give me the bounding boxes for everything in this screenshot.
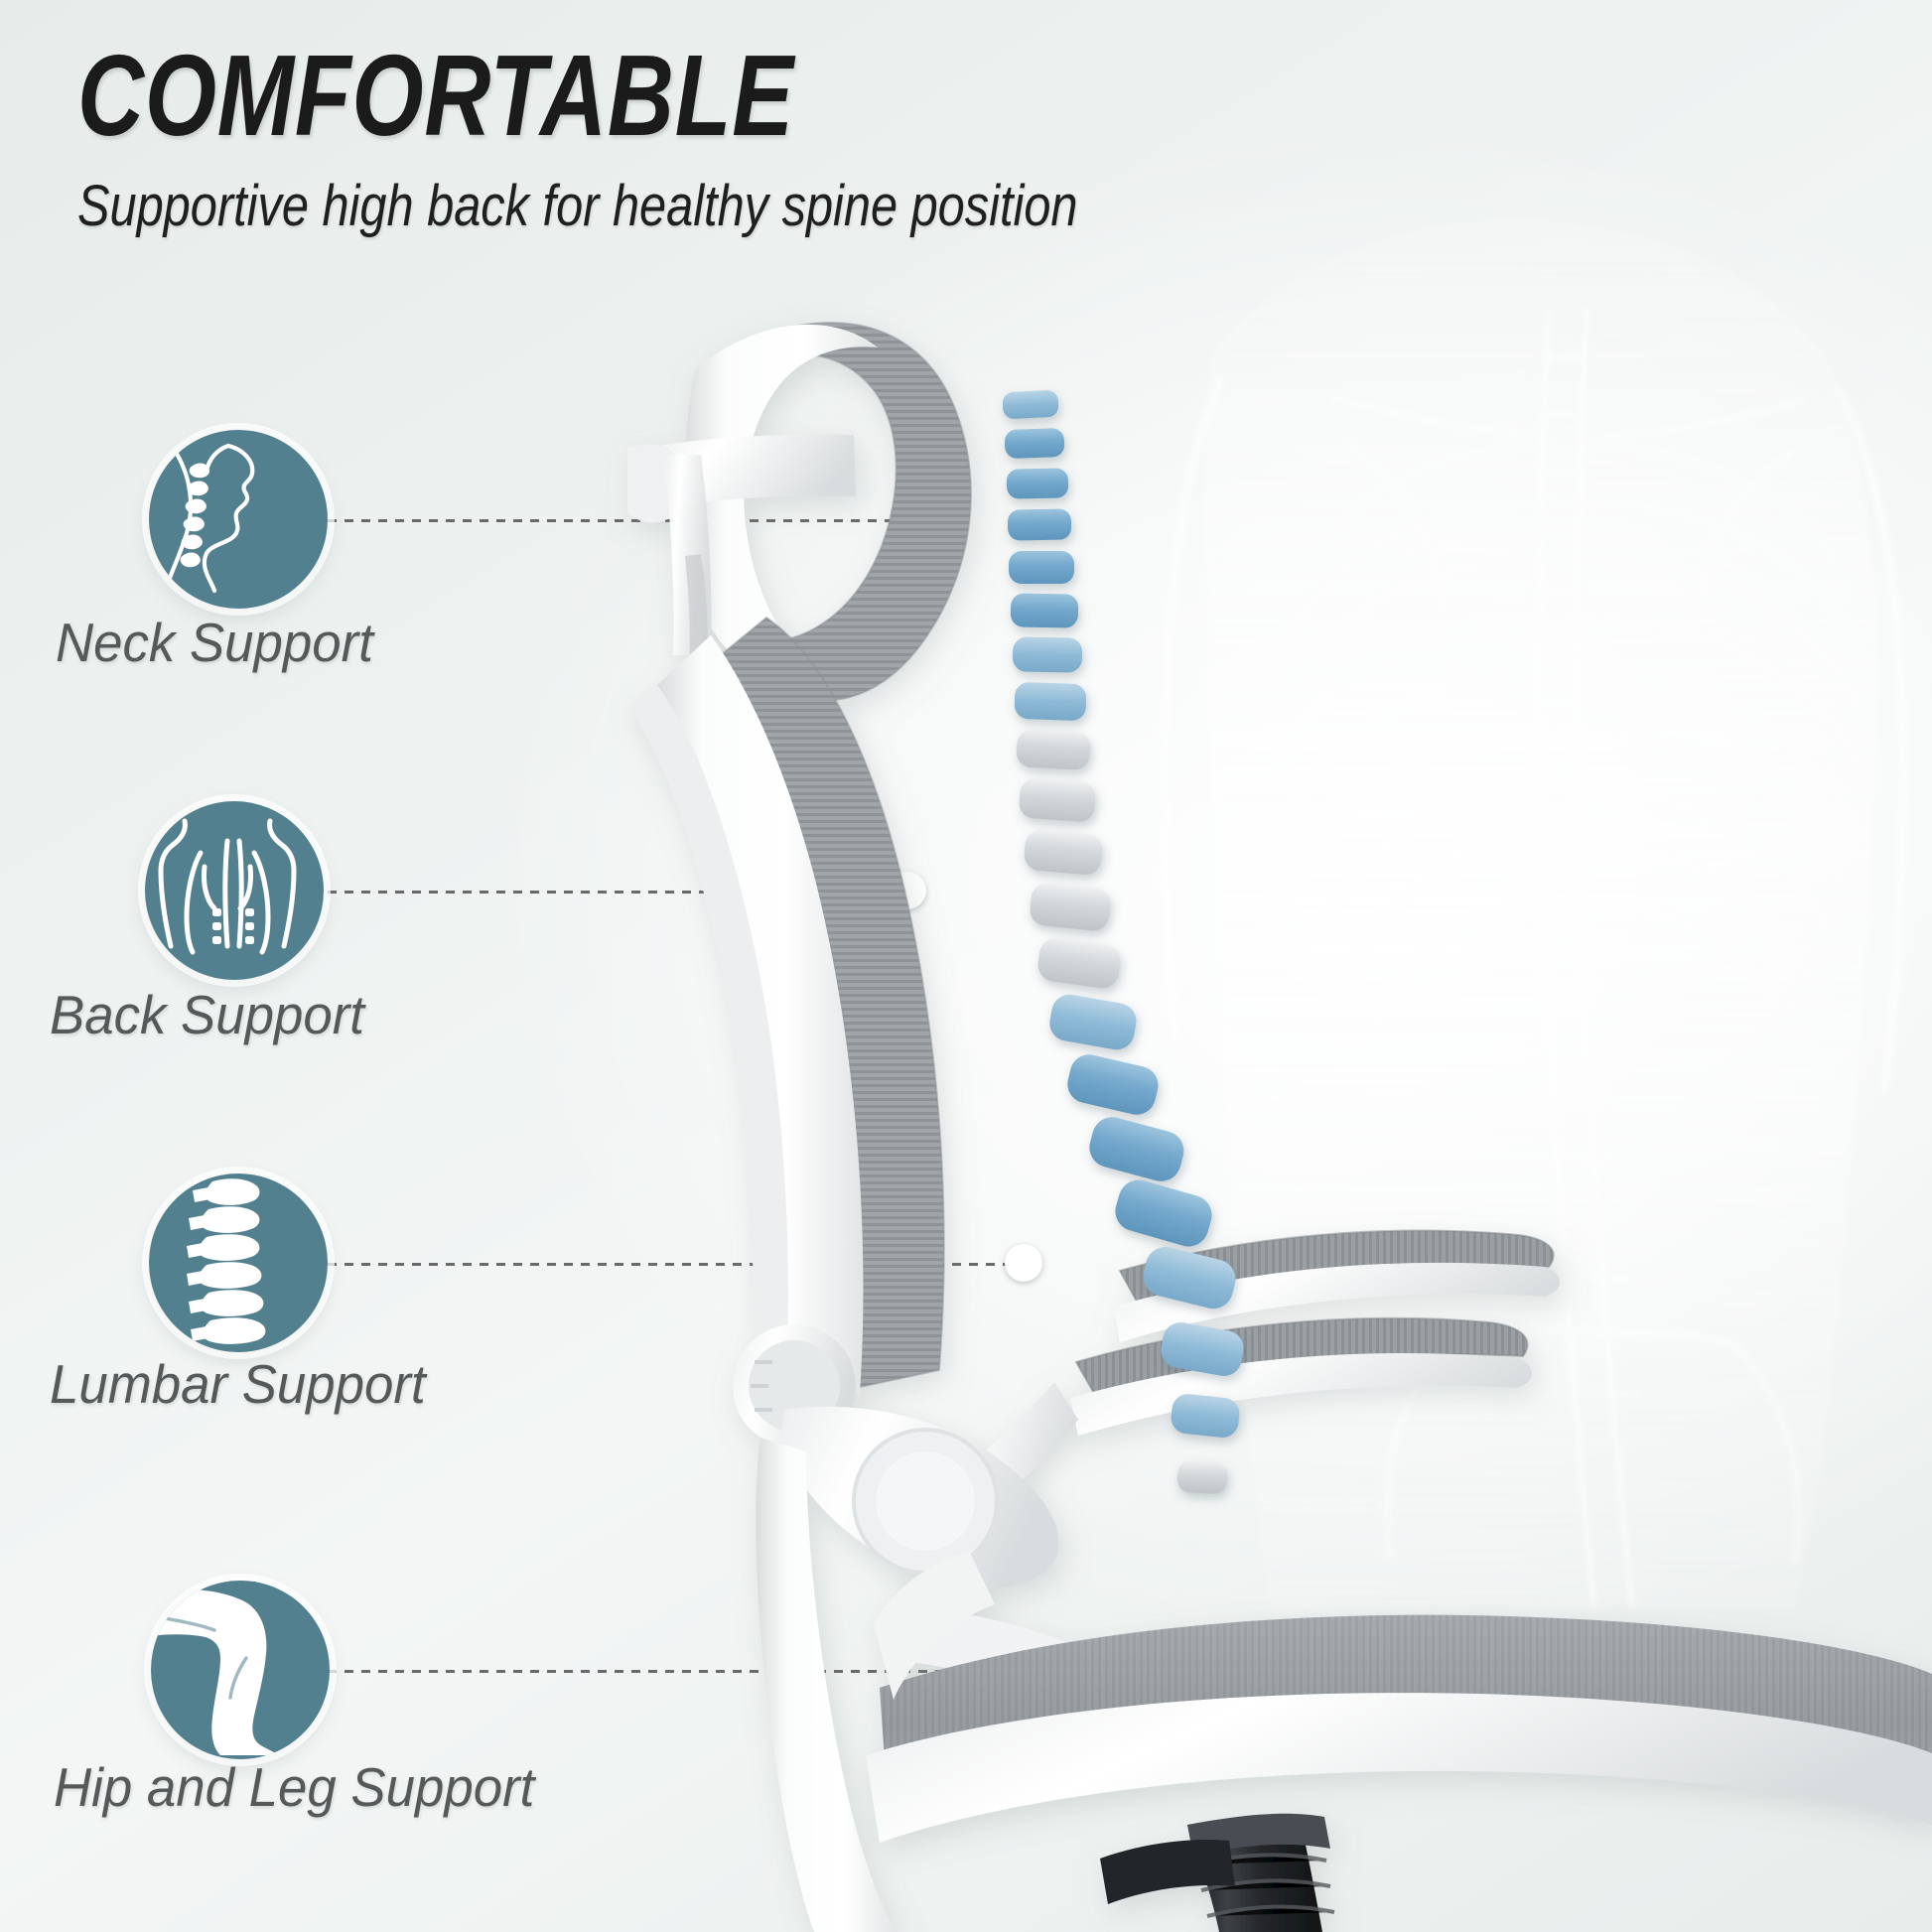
feature-label-back: Back Support (50, 983, 364, 1046)
back-torso-spine-icon (145, 801, 324, 980)
neck-spine-profile-icon (149, 430, 328, 609)
feature-label-lumbar: Lumbar Support (50, 1352, 426, 1416)
hip-leg-icon-art (151, 1581, 330, 1759)
feature-label-hip-leg: Hip and Leg Support (54, 1755, 534, 1819)
seated-leg-profile-icon (151, 1581, 330, 1759)
infographic-canvas: COMFORTABLE Supportive high back for hea… (0, 0, 1932, 1932)
neck-icon-art (149, 430, 328, 609)
lumbar-vertebrae-icon (149, 1173, 328, 1352)
feature-label-neck: Neck Support (56, 611, 373, 674)
back-icon-art (145, 801, 324, 980)
lumbar-icon-art (149, 1173, 328, 1352)
